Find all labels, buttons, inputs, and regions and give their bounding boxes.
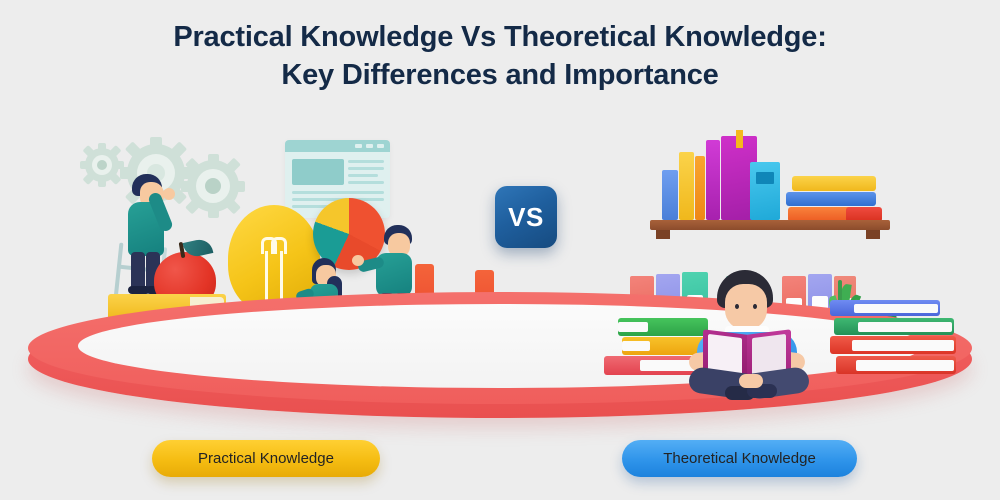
woman-leg (315, 348, 322, 370)
vs-badge: VS (495, 186, 557, 248)
man-hand (352, 255, 364, 266)
book-cyan-upright (750, 162, 780, 220)
upper-shelf-board (650, 220, 890, 230)
browser-text-line (348, 181, 384, 184)
browser-dot (366, 144, 373, 148)
upper-shelf-bracket (656, 230, 670, 239)
right-illustration (590, 0, 1000, 440)
book-magenta-upright (706, 140, 720, 220)
label-practical-text: Practical Knowledge (198, 450, 334, 467)
book-yellow (108, 294, 226, 320)
browser-text-line (348, 160, 384, 163)
person-leg (131, 252, 145, 290)
bookmark (736, 130, 743, 148)
bulb-filament (261, 237, 287, 309)
upper-shelf-stack (786, 176, 878, 222)
vs-label: VS (508, 202, 544, 233)
man-on-podium (368, 225, 428, 355)
browser-text-line (348, 174, 378, 177)
left-illustration (0, 0, 500, 440)
man-leg (395, 293, 409, 335)
label-theoretical-text: Theoretical Knowledge (663, 450, 816, 467)
book-blue-flat (786, 192, 876, 206)
browser-dot (355, 144, 362, 148)
woman-torso (310, 284, 338, 320)
label-practical-knowledge[interactable]: Practical Knowledge (152, 440, 380, 477)
book-teal (100, 349, 230, 376)
upper-shelf-bracket (866, 230, 880, 239)
book-yellow-flat (792, 176, 876, 191)
book-stack-floor-right (830, 300, 960, 380)
book-orange-upright (695, 156, 705, 220)
browser-content-block (292, 159, 344, 185)
boy-head (725, 284, 767, 330)
boy-hand (739, 374, 763, 388)
label-theoretical-knowledge[interactable]: Theoretical Knowledge (622, 440, 857, 477)
infographic-canvas: Practical Knowledge Vs Theoretical Knowl… (0, 0, 1000, 500)
book-cyan-label (756, 172, 774, 184)
browser-titlebar (285, 140, 390, 152)
man-leg (380, 293, 394, 335)
book-stack-left (100, 294, 230, 376)
boy-reading (685, 270, 815, 400)
bulb-pedestal (244, 333, 304, 344)
bar-column (445, 302, 464, 342)
podium-left (337, 348, 375, 364)
boy-eye (753, 304, 757, 309)
boy-eye (735, 304, 739, 309)
podium-right (424, 346, 464, 364)
woman-leg (326, 348, 333, 370)
browser-dot (377, 144, 384, 148)
woman-skirt (304, 316, 344, 350)
gear-small-icon (85, 148, 119, 182)
podium-center (372, 337, 426, 363)
person-hand (163, 188, 175, 200)
woman-shoe (324, 368, 337, 375)
bar-column (475, 270, 494, 342)
browser-text-line (348, 167, 384, 170)
book-red (103, 321, 229, 348)
browser-text-line (292, 191, 384, 194)
book-yellow-upright (679, 152, 694, 220)
book-blue-upright (662, 170, 678, 220)
